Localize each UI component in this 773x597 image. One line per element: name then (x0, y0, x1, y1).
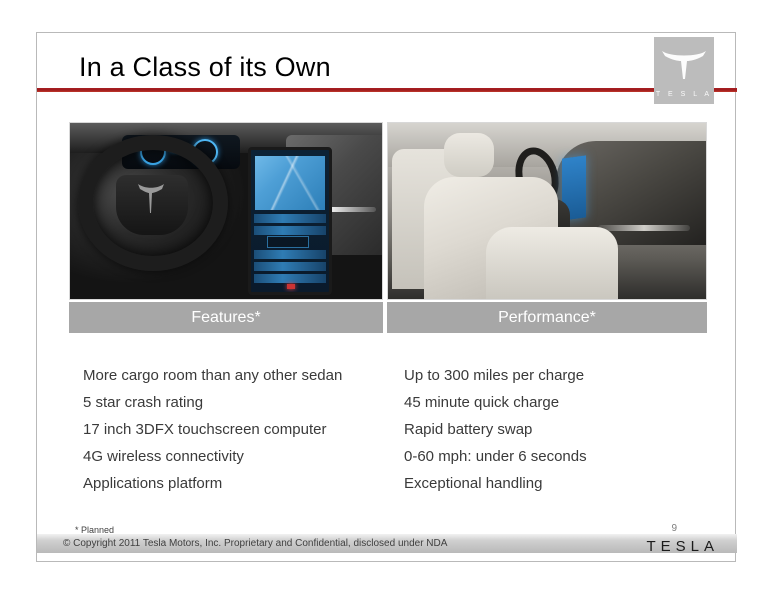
caption-performance: Performance* (387, 302, 707, 333)
list-item: Exceptional handling (404, 470, 704, 497)
title-divider-rule (37, 88, 737, 92)
touchscreen-row-3 (254, 250, 326, 259)
list-item: Up to 300 miles per charge (404, 362, 704, 389)
caption-row: Features* Performance* (69, 302, 707, 333)
tesla-logo-wordmark: T E S L A (654, 91, 714, 98)
photo-row (69, 122, 707, 300)
interior-light-backdrop (388, 123, 706, 299)
tesla-wordmark: TESLA (646, 538, 719, 555)
touchscreen-map-view (255, 156, 325, 210)
touchscreen-panel-box (267, 236, 309, 248)
list-item: 45 minute quick charge (404, 389, 704, 416)
list-item: More cargo room than any other sedan (83, 362, 403, 389)
list-item: 0-60 mph: under 6 seconds (404, 443, 704, 470)
touchscreen-row-2 (254, 226, 326, 235)
list-item: Applications platform (83, 470, 403, 497)
page-title: In a Class of its Own (79, 51, 331, 83)
touchscreen-row-5 (254, 274, 326, 283)
copyright-text: © Copyright 2011 Tesla Motors, Inc. Prop… (63, 534, 447, 553)
headrest (444, 133, 494, 177)
interior-dark-backdrop (70, 123, 382, 299)
front-seat-cushion (486, 227, 618, 300)
slide-root: In a Class of its Own T E S L A (0, 0, 773, 597)
performance-list: Up to 300 miles per charge 45 minute qui… (404, 362, 704, 497)
footer-brand: 9 TESLA (599, 523, 719, 557)
center-touchscreen (248, 147, 332, 295)
caption-features: Features* (69, 302, 383, 333)
touchscreen-row-1 (254, 214, 326, 223)
seats-interior-photo (387, 122, 707, 300)
list-item: 5 star crash rating (83, 389, 403, 416)
features-list: More cargo room than any other sedan 5 s… (83, 362, 403, 497)
list-item: 4G wireless connectivity (83, 443, 403, 470)
list-item: 17 inch 3DFX touchscreen computer (83, 416, 403, 443)
touchscreen-row-4 (254, 262, 326, 271)
list-item: Rapid battery swap (404, 416, 704, 443)
dashboard-trim (598, 225, 690, 231)
page-number: 9 (671, 523, 677, 534)
dashboard-interior-photo (69, 122, 383, 300)
touchscreen-accent-indicator (287, 284, 295, 289)
tesla-t-icon (654, 46, 714, 82)
slide-frame: In a Class of its Own T E S L A (36, 32, 736, 562)
steering-wheel-tesla-t-icon (136, 181, 166, 215)
tesla-logo: T E S L A (654, 37, 714, 104)
